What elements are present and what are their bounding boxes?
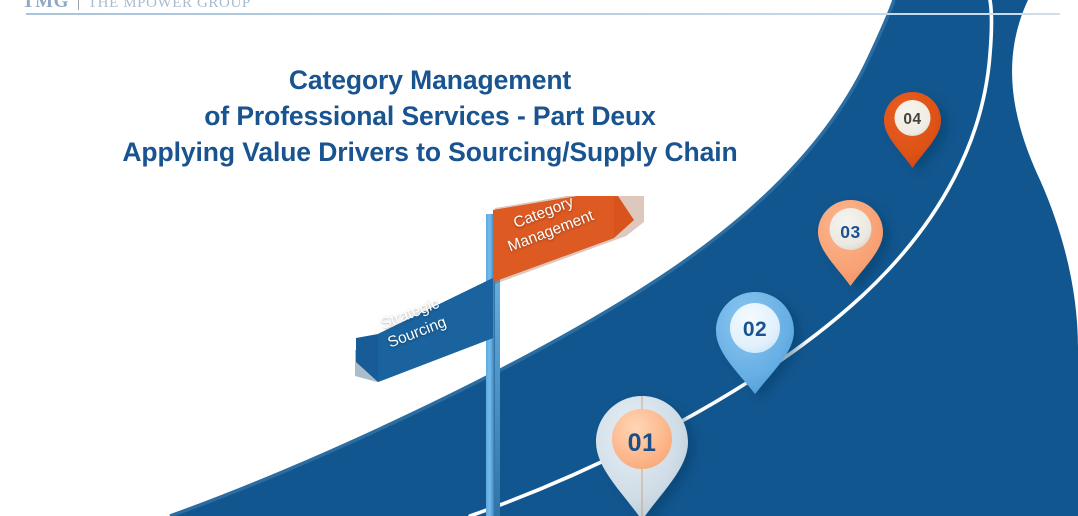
map-pin-01-label[interactable]: 01	[596, 396, 688, 516]
logo-mark-tmg: TMG	[22, 0, 69, 11]
vertical-divider-icon	[78, 0, 79, 10]
sign-label-category-management: Category Management	[498, 188, 597, 258]
page-title-line-1: Category Management	[0, 62, 860, 98]
map-pin-04-label[interactable]: 04	[884, 92, 941, 168]
pin-number-04: 04	[884, 111, 941, 129]
pin-number-03: 03	[818, 222, 883, 243]
logo-company-name: THE MPOWER GROUP	[88, 0, 251, 11]
sign-label-strategic-sourcing: Strategic Sourcing	[378, 294, 449, 353]
page-title: Category Management of Professional Serv…	[0, 62, 860, 170]
brand-logo[interactable]: TMG THE MPOWER GROUP	[22, 0, 251, 11]
map-pin-03-label[interactable]: 03	[818, 200, 883, 286]
pin-number-01: 01	[596, 429, 688, 458]
page-title-line-3: Applying Value Drivers to Sourcing/Suppl…	[0, 134, 860, 170]
header-divider	[26, 13, 1060, 15]
pin-number-02: 02	[716, 318, 794, 342]
page-title-line-2: of Professional Services - Part Deux	[0, 98, 860, 134]
map-pin-02-label[interactable]: 02	[716, 292, 794, 394]
slide-canvas: Category Management Strategic Sourcing 0…	[0, 0, 1078, 516]
